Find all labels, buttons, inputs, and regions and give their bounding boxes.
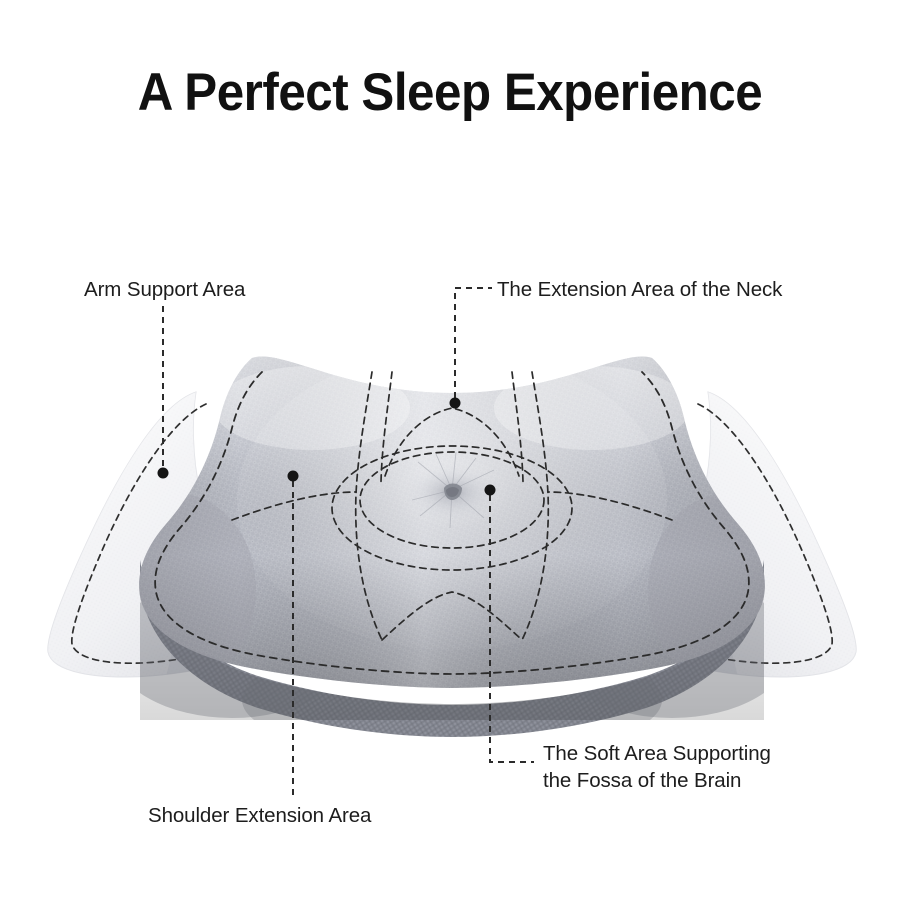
callout-dot-arm-support [158,468,169,479]
callout-label-fossa-support: The Soft Area Supporting the Fossa of th… [543,740,771,794]
page-title: A Perfect Sleep Experience [32,62,869,124]
infographic-canvas: A Perfect Sleep Experience [0,0,900,900]
callout-label-shoulder-extension: Shoulder Extension Area [148,802,371,829]
callout-label-arm-support: Arm Support Area [84,276,245,303]
leader-neck-extension [455,288,492,398]
callout-dot-fossa-support [485,485,496,496]
pillow-contour-stitching [232,372,672,640]
callout-label-neck-extension: The Extension Area of the Neck [497,276,782,303]
leader-fossa-support [490,495,534,762]
callout-dot-shoulder-extension [288,471,299,482]
pillow-top-surface [100,340,804,710]
callout-leader-lines [163,288,534,796]
pillow-right-wing [574,392,856,700]
pillow-left-wing [48,392,330,700]
pillow-front-face [112,540,792,760]
callout-dot-neck-extension [450,398,461,409]
